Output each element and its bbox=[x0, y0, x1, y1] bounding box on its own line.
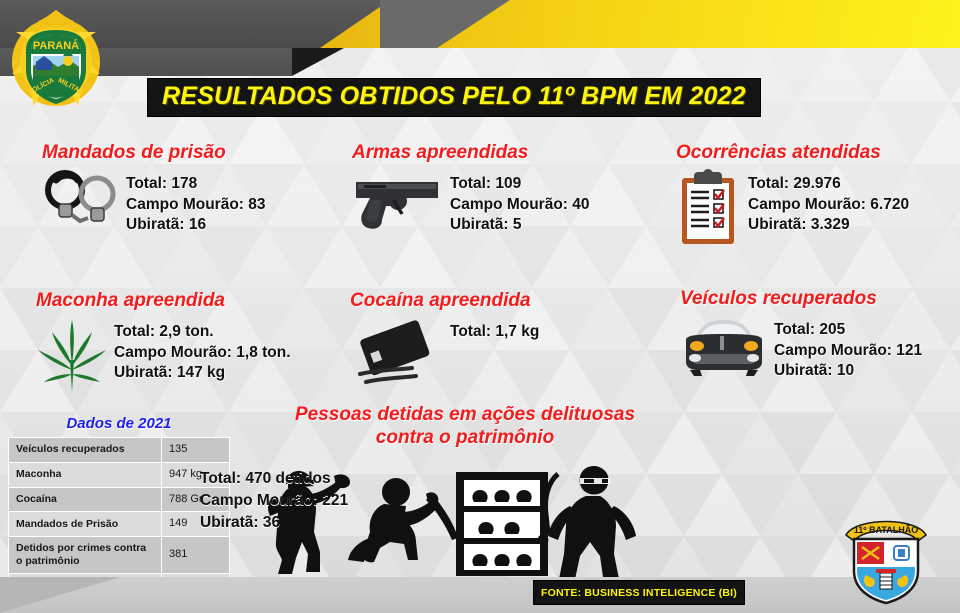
table-cell-label: Cocaína bbox=[9, 487, 162, 512]
page-title: RESULTADOS OBTIDOS PELO 11º BPM EM 2022 bbox=[147, 78, 761, 117]
pistol-icon bbox=[352, 168, 444, 239]
stat-line: Campo Mourão: 121 bbox=[774, 341, 922, 362]
stat-lines: Total: 178 Campo Mourão: 83 Ubiratã: 16 bbox=[126, 168, 266, 236]
stat-line: Total: 2,9 ton. bbox=[114, 322, 291, 343]
stat-card-maconha-apreendida: Maconha apreendida Tot bbox=[36, 290, 291, 399]
table-row: Maconha 947 kg bbox=[9, 462, 230, 487]
stat-card-cocaina-apreendida: Cocaína apreendida Total: 1,7 kg bbox=[350, 290, 539, 393]
stat-title: Maconha apreendida bbox=[36, 290, 291, 312]
stat-line: Total: 205 bbox=[774, 320, 922, 341]
infographic-page: PARANÁ POLÍCIA MILITAR RESULTADOS OBTIDO… bbox=[0, 0, 960, 613]
dados-2021-table-block: Dados de 2021 Veículos recuperados 135 M… bbox=[8, 415, 230, 599]
11-batalhao-crest: 11º BATALHÃO bbox=[832, 509, 940, 605]
table-cell-value: 135 bbox=[162, 438, 230, 463]
table-cell-label: Maconha bbox=[9, 462, 162, 487]
table-cell-value: 381 bbox=[162, 537, 230, 574]
detained-title-line1: Pessoas detidas em ações delituosas bbox=[295, 404, 635, 425]
stat-lines: Total: 1,7 kg bbox=[450, 316, 539, 343]
stat-line: Ubiratã: 10 bbox=[774, 361, 922, 382]
detained-stat-lines: Total: 470 detidos Campo Mourão: 221 Ubi… bbox=[200, 468, 348, 534]
stat-lines: Total: 29.976 Campo Mourão: 6.720 Ubirat… bbox=[748, 168, 909, 236]
stat-lines: Total: 109 Campo Mourão: 40 Ubiratã: 5 bbox=[450, 168, 590, 236]
stat-lines: Total: 2,9 ton. Campo Mourão: 1,8 ton. U… bbox=[114, 316, 291, 384]
cocaine-card-icon bbox=[350, 316, 444, 393]
stat-lines: Total: 205 Campo Mourão: 121 Ubiratã: 10 bbox=[774, 314, 922, 382]
stat-title: Armas apreendidas bbox=[352, 142, 590, 164]
svg-text:PARANÁ: PARANÁ bbox=[33, 39, 79, 52]
burglar-silhouette bbox=[348, 478, 458, 562]
stat-line: Campo Mourão: 40 bbox=[450, 195, 590, 216]
stat-title: Veículos recuperados bbox=[680, 288, 922, 310]
stat-line: Ubiratã: 3.329 bbox=[748, 215, 909, 236]
stat-card-ocorrencias-atendidas: Ocorrências atendidas bbox=[676, 142, 909, 253]
page-title-text: RESULTADOS OBTIDOS PELO 11º BPM EM 2022 bbox=[162, 82, 746, 110]
car-icon bbox=[680, 314, 768, 385]
stat-card-armas-apreendidas: Armas apreendidas Total: 109 Campo Mourã… bbox=[352, 142, 590, 239]
stat-line: Campo Mourão: 6.720 bbox=[748, 195, 909, 216]
crest-banner-text: 11º BATALHÃO bbox=[854, 525, 918, 535]
stat-card-mandados-de-prisao: Mandados de prisão Total: 178 bbox=[42, 142, 266, 239]
detained-title-line2: contra o patrimônio bbox=[376, 427, 554, 448]
stat-line: Ubiratã: 16 bbox=[126, 215, 266, 236]
safe-with-money-bags-icon bbox=[456, 472, 548, 576]
stat-line: Ubiratã: 147 kg bbox=[114, 363, 291, 384]
source-text: FONTE: BUSINESS INTELIGENCE (BI) bbox=[541, 587, 737, 599]
detained-line: Campo Mourão: 221 bbox=[200, 490, 348, 512]
parana-policia-militar-emblem: PARANÁ POLÍCIA MILITAR bbox=[8, 4, 104, 116]
clipboard-checklist-icon bbox=[676, 168, 742, 253]
stat-line: Campo Mourão: 1,8 ton. bbox=[114, 343, 291, 364]
detained-section-title: Pessoas detidas em ações delituosas cont… bbox=[255, 404, 675, 450]
stat-card-veiculos-recuperados: Veículos recuperados Total: bbox=[680, 288, 922, 385]
handcuffs-icon bbox=[42, 168, 120, 239]
table-cell-label: Mandados de Prisão bbox=[9, 512, 162, 537]
stat-line: Total: 29.976 bbox=[748, 174, 909, 195]
stat-title: Ocorrências atendidas bbox=[676, 142, 909, 164]
stat-line: Campo Mourão: 83 bbox=[126, 195, 266, 216]
dados-2021-table: Veículos recuperados 135 Maconha 947 kg … bbox=[8, 437, 230, 599]
stat-line: Total: 1,7 kg bbox=[450, 322, 539, 343]
stat-line: Total: 178 bbox=[126, 174, 266, 195]
detained-line: Ubiratã: 36 bbox=[200, 512, 348, 534]
table-row: Mandados de Prisão 149 bbox=[9, 512, 230, 537]
table-title: Dados de 2021 bbox=[8, 415, 230, 432]
stat-line: Ubiratã: 5 bbox=[450, 215, 590, 236]
table-cell-label: Detidos por crimes contra o patrimônio bbox=[9, 537, 162, 574]
stat-title: Mandados de prisão bbox=[42, 142, 266, 164]
table-cell-label: Veículos recuperados bbox=[9, 438, 162, 463]
table-row: Cocaína 788 Gr bbox=[9, 487, 230, 512]
stat-title: Cocaína apreendida bbox=[350, 290, 539, 312]
header-black-wedge bbox=[292, 48, 344, 76]
stat-line: Total: 109 bbox=[450, 174, 590, 195]
cannabis-leaf-icon bbox=[36, 316, 108, 399]
footer-strip bbox=[0, 577, 960, 613]
table-row: Veículos recuperados 135 bbox=[9, 438, 230, 463]
source-badge: FONTE: BUSINESS INTELIGENCE (BI) bbox=[533, 580, 745, 605]
detained-line: Total: 470 detidos bbox=[200, 468, 348, 490]
detained-title: Pessoas detidas em ações delituosas cont… bbox=[255, 404, 675, 450]
table-row: Detidos por crimes contra o patrimônio 3… bbox=[9, 537, 230, 574]
